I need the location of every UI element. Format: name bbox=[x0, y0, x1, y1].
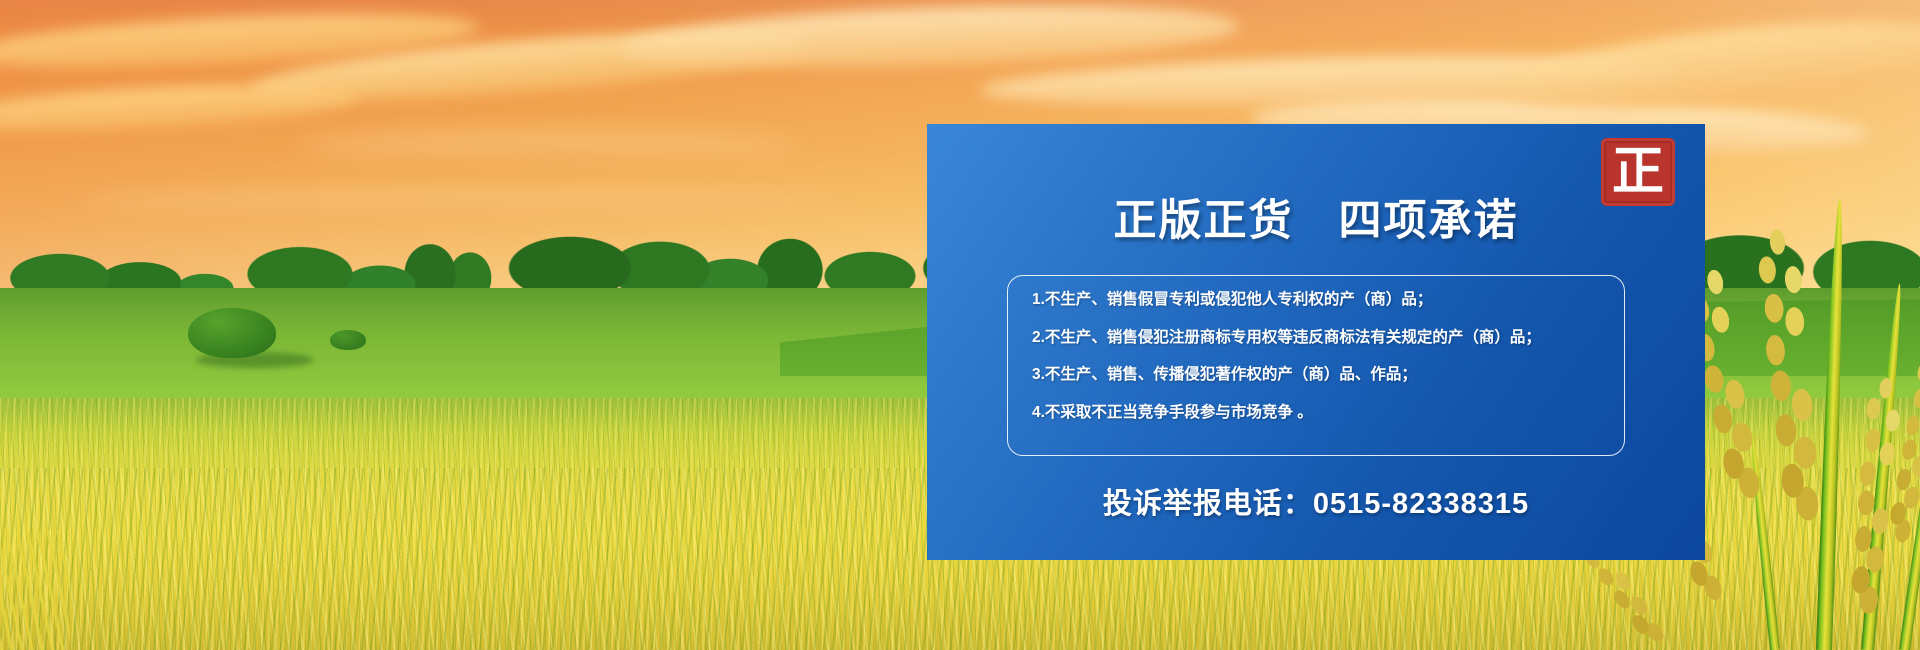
commitment-item: 2.不生产、销售侵犯注册商标专用权等违反商标法有关规定的产（商）品； bbox=[1032, 330, 1606, 347]
stray-rice-stalks bbox=[0, 530, 70, 650]
complaint-hotline: 投诉举报电话：0515-82338315 bbox=[927, 480, 1705, 522]
cloud bbox=[80, 190, 840, 216]
meadow-tree bbox=[188, 308, 276, 358]
cloud bbox=[300, 130, 800, 164]
cloud bbox=[0, 77, 361, 139]
commitment-item: 4.不采取不正当竞争手段参与市场竞争 。 bbox=[1032, 405, 1606, 422]
commitments-box: 1.不生产、销售假冒专利或侵犯他人专利权的产（商）品； 2.不生产、销售侵犯注册… bbox=[1007, 275, 1625, 456]
promise-panel: 正 正版正货 四项承诺 1.不生产、销售假冒专利或侵犯他人专利权的产（商）品； … bbox=[927, 124, 1705, 560]
commitment-item: 3.不生产、销售、传播侵犯著作权的产（商）品、作品； bbox=[1032, 367, 1606, 384]
commitment-item: 1.不生产、销售假冒专利或侵犯他人专利权的产（商）品； bbox=[1032, 292, 1606, 309]
meadow-bush bbox=[330, 330, 366, 350]
page-title: 正版正货 四项承诺 bbox=[927, 186, 1705, 248]
